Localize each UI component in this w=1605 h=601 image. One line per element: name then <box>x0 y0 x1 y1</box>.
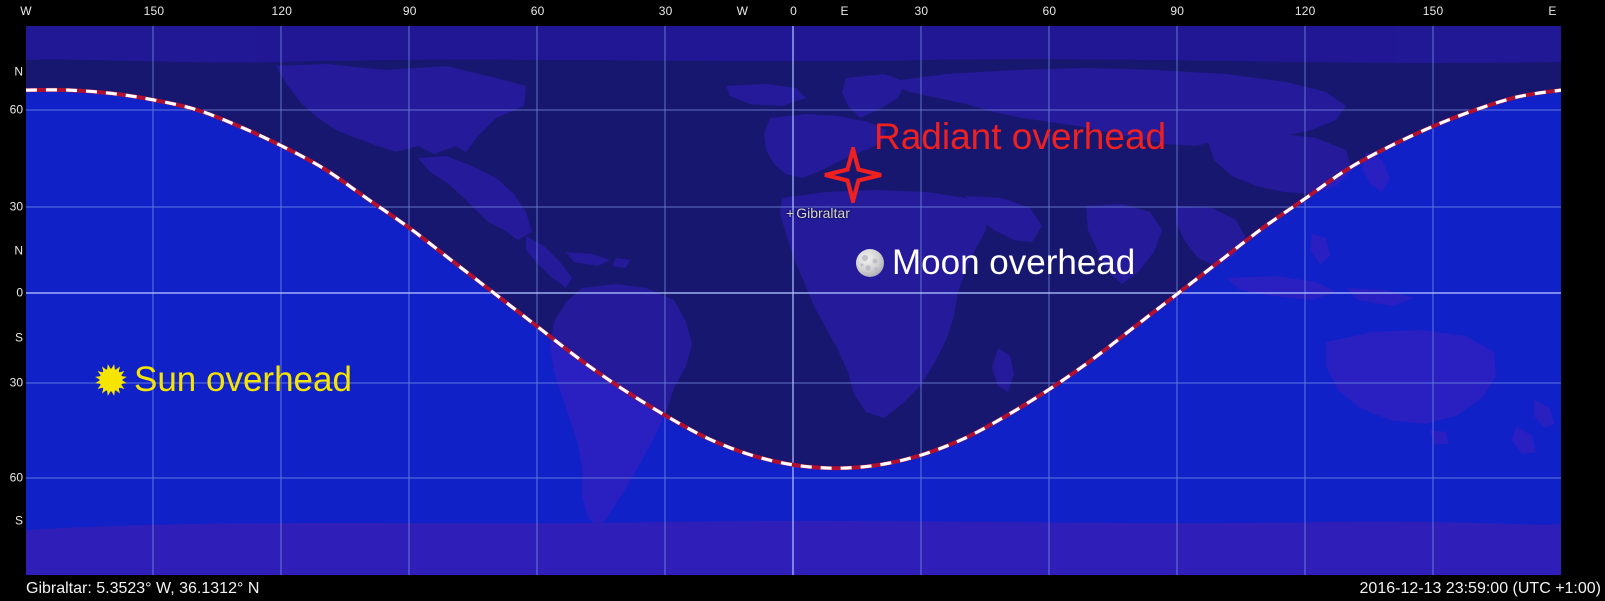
moon-icon <box>854 247 886 279</box>
longitude-tick-label: 150 <box>144 4 165 18</box>
observer-location-label: Gibraltar <box>796 205 850 221</box>
longitude-tick-label: 90 <box>403 4 417 18</box>
latitude-tick-label: S <box>15 332 23 345</box>
observer-location-marker[interactable]: +Gibraltar <box>786 205 850 221</box>
world-map-canvas[interactable]: Sun overhead Moon overhead Radiant overh… <box>26 26 1561 575</box>
longitude-tick-label: 90 <box>1170 4 1184 18</box>
sun-overhead-label: Sun overhead <box>134 362 352 398</box>
longitude-tick-label: E <box>841 4 849 18</box>
latitude-axis: N6030N0S3060S <box>0 26 26 575</box>
longitude-tick-label: E <box>1548 4 1556 18</box>
longitude-tick-label: 30 <box>915 4 929 18</box>
radiant-overhead-label: Radiant overhead <box>874 118 1166 156</box>
plus-icon: + <box>786 205 794 221</box>
longitude-tick-label: 120 <box>272 4 293 18</box>
longitude-axis: W150120906030W0E306090120150E <box>0 0 1605 26</box>
longitude-tick-label: 120 <box>1295 4 1316 18</box>
moon-overhead-marker[interactable]: Moon overhead <box>854 245 1135 281</box>
latitude-tick-label: N <box>14 66 23 79</box>
sun-icon <box>94 363 128 397</box>
longitude-tick-label: 0 <box>790 4 797 18</box>
longitude-tick-label: W <box>737 4 749 18</box>
longitude-tick-label: 60 <box>1042 4 1056 18</box>
latitude-tick-label: 30 <box>10 377 23 390</box>
latitude-tick-label: 60 <box>10 104 23 117</box>
right-margin <box>1561 26 1605 575</box>
longitude-tick-label: 30 <box>659 4 673 18</box>
world-map-graphic <box>26 26 1561 575</box>
latitude-tick-label: N <box>14 245 23 258</box>
moon-overhead-label: Moon overhead <box>892 245 1135 281</box>
day-night-map-window: W150120906030W0E306090120150E N6030N0S30… <box>0 0 1605 601</box>
status-timestamp-text: 2016-12-13 23:59:00 (UTC +1:00) <box>1360 579 1601 598</box>
longitude-tick-label: 60 <box>531 4 545 18</box>
longitude-tick-label: W <box>20 4 32 18</box>
latitude-tick-label: S <box>15 515 23 528</box>
latitude-tick-label: 60 <box>10 472 23 485</box>
status-bar: Gibraltar: 5.3523° W, 36.1312° N 2016-12… <box>0 575 1605 601</box>
latitude-tick-label: 30 <box>10 201 23 214</box>
latitude-tick-label: 0 <box>16 287 23 300</box>
sun-overhead-marker[interactable]: Sun overhead <box>94 362 352 398</box>
status-location-text: Gibraltar: 5.3523° W, 36.1312° N <box>26 579 259 598</box>
longitude-tick-label: 150 <box>1423 4 1444 18</box>
